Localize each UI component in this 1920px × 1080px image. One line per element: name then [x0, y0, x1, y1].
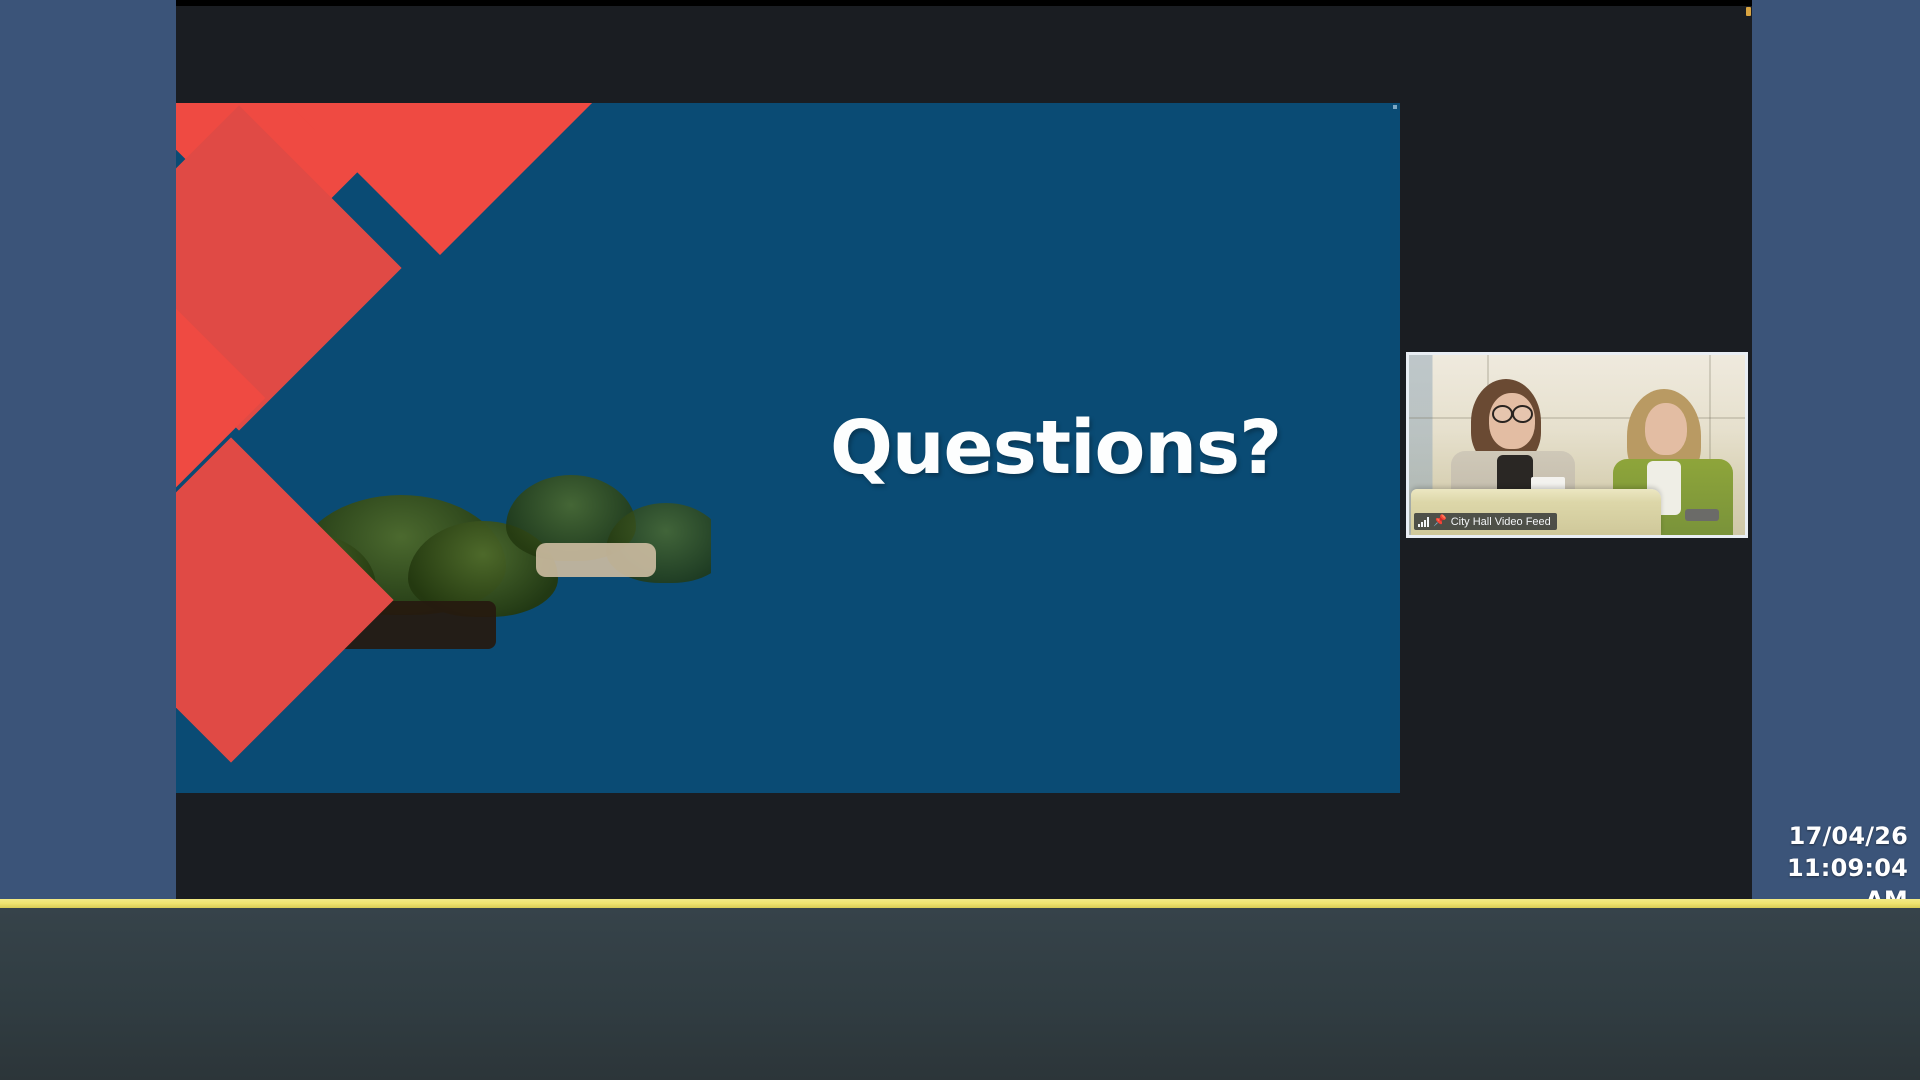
pip-feed-label: 📌 City Hall Video Feed	[1414, 513, 1557, 530]
presentation-slide: Questions?	[176, 103, 1400, 793]
accent-rule	[0, 899, 1920, 908]
head-shape	[1645, 403, 1687, 455]
glasses-icon	[1512, 405, 1533, 423]
pip-label-text: City Hall Video Feed	[1451, 516, 1551, 528]
wall-seam	[1709, 355, 1711, 475]
slide-text-panel: Questions?	[711, 103, 1400, 793]
lower-third-banner: WA Nonprofit Cyber Forum: Research & Res…	[0, 908, 1920, 1080]
live-indicator-dot	[1746, 7, 1751, 16]
slide-headline: Questions?	[830, 405, 1281, 491]
handheld-device	[1685, 509, 1719, 521]
glasses-icon	[1492, 405, 1513, 423]
pin-icon: 📌	[1433, 516, 1447, 527]
video-viewport[interactable]: Questions?	[176, 0, 1752, 900]
timestamp-date: 17/04/26	[1756, 820, 1908, 852]
pip-video-feed[interactable]: 📌 City Hall Video Feed	[1406, 352, 1748, 538]
stone-shape	[536, 543, 656, 577]
broadcast-screen: Questions?	[0, 0, 1920, 1080]
letterbox-bar	[176, 0, 1752, 6]
red-diamond-accent	[176, 437, 394, 762]
pip-video-content: 📌 City Hall Video Feed	[1409, 355, 1745, 535]
slide-corner-marker	[1393, 105, 1397, 109]
signal-bars-icon	[1418, 517, 1429, 527]
slide-photo-forest-trail	[176, 103, 711, 793]
